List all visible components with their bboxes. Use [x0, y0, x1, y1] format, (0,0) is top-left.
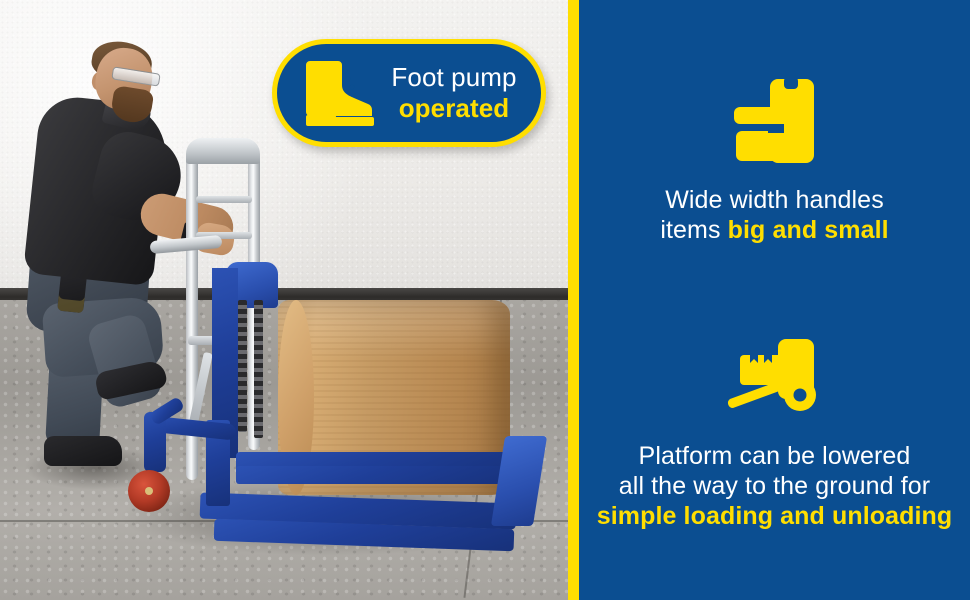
feature-line-emphasis: big and small — [728, 216, 889, 244]
panel-divider — [568, 0, 579, 600]
feature-line: Platform can be lowered — [591, 441, 958, 471]
lift-chain-left — [238, 300, 247, 432]
caster-wheel — [128, 470, 170, 512]
feature-line-prefix: items — [660, 216, 727, 244]
product-photo: Foot pump operated — [0, 0, 568, 600]
feature-line: Wide width handles — [591, 185, 958, 215]
feature-lowered-platform-text: Platform can be lowered all the way to t… — [591, 441, 958, 531]
feature-line-emphasis: simple loading and unloading — [591, 501, 958, 531]
mast-crossbar-upper — [196, 196, 252, 203]
feature-line: items big and small — [591, 215, 958, 245]
feature-wide-width: Wide width handles items big and small — [591, 75, 958, 245]
feature-line: all the way to the ground for — [591, 471, 958, 501]
badge-text: Foot pump operated — [383, 62, 541, 123]
feature-lowered-platform: Platform can be lowered all the way to t… — [591, 331, 958, 531]
mast-handle-top — [186, 138, 260, 164]
worker-boot-rear — [44, 436, 122, 466]
big-and-small-boxes-icon — [591, 75, 958, 167]
feature-wide-width-text: Wide width handles items big and small — [591, 185, 958, 245]
feature-list: Wide width handles items big and small — [579, 0, 970, 600]
foot-pump-badge: Foot pump operated — [272, 39, 546, 147]
platform-front-lip — [236, 466, 526, 484]
caster-hub — [145, 487, 153, 495]
lift-chain-right — [254, 300, 263, 438]
work-boot-icon — [291, 57, 383, 129]
hand-truck-with-box-icon — [591, 331, 958, 423]
badge-line-2: operated — [383, 93, 525, 124]
product-feature-banner: Foot pump operated — [0, 0, 970, 600]
badge-line-1: Foot pump — [383, 62, 525, 93]
